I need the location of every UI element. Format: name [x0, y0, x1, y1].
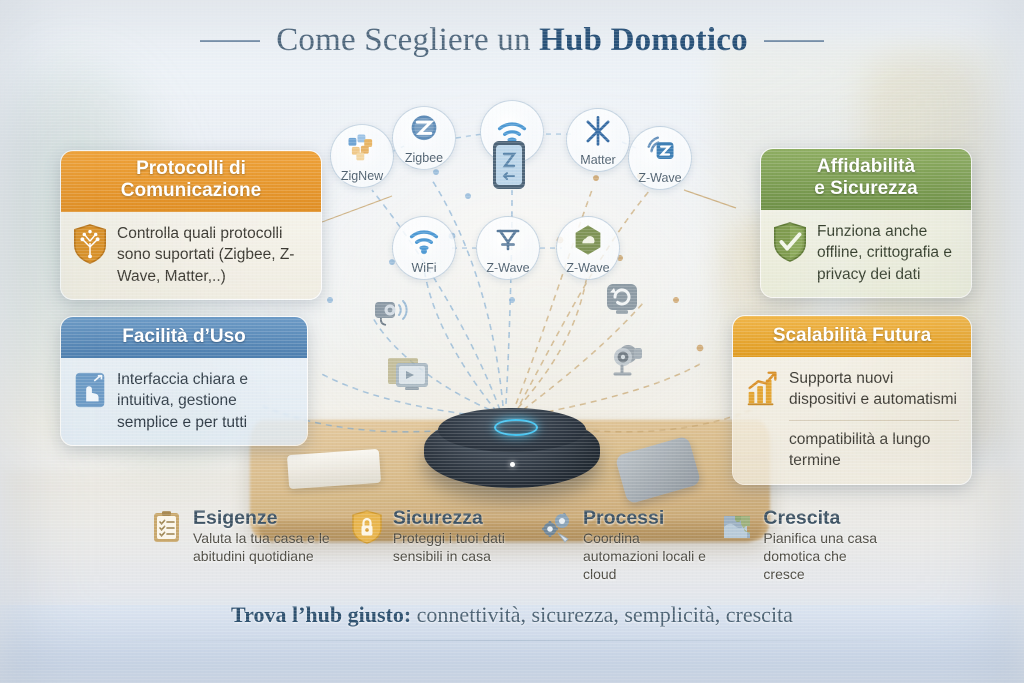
hand-touch-icon — [72, 370, 108, 410]
hub-status-led — [510, 462, 515, 467]
badge-zwave-mid[interactable]: Z-Wave — [476, 216, 540, 280]
title-text-bold: Hub Domotico — [539, 22, 748, 58]
badge-label: Matter — [580, 153, 615, 167]
gears-icon — [540, 510, 574, 544]
badge-matter[interactable]: Matter — [566, 108, 630, 172]
bottom-item-esigenze[interactable]: Esigenze Valuta la tua casa e le abitudi… — [150, 508, 344, 566]
orange-shield-network-icon — [72, 224, 108, 264]
bottom-item-title: Esigenze — [193, 508, 344, 528]
card-header-line1: Protocolli di — [75, 158, 307, 180]
sync-refresh-icon — [604, 282, 644, 316]
bottom-item-desc: Proteggi i tuoi dati sensibili in casa — [393, 530, 534, 566]
bottom-item-title: Sicurezza — [393, 508, 534, 528]
green-shield-check-icon — [772, 222, 808, 262]
footer-normal: connettività, sicurezza, semplicità, cre… — [411, 602, 793, 627]
puzzle-piece-icon — [720, 510, 754, 544]
device-tv[interactable] — [386, 355, 432, 395]
wifi-icon — [406, 222, 442, 258]
thread-icon — [490, 222, 526, 258]
footer-bold: Trova l’hub giusto: — [231, 602, 411, 627]
card-header-line1: Facilità d’Uso — [75, 326, 293, 348]
card-body-text-secondary: compatibilità a lungo termine — [789, 429, 959, 472]
card-header-line2: Comunicazione — [75, 180, 307, 202]
wireless-sensor-icon — [372, 295, 412, 329]
card-header-line1: Affidabilità — [775, 156, 957, 178]
card-body: Interfaccia chiara e intuitiva, gestione… — [61, 358, 307, 445]
bottom-item-title: Crescita — [763, 508, 890, 528]
bottom-item-crescita[interactable]: Crescita Pianifica una casa domotica che… — [720, 508, 890, 584]
badge-zigbee[interactable]: Zigbee — [392, 106, 456, 170]
title-rule-right — [764, 40, 824, 42]
notebook-prop — [287, 449, 381, 489]
badge-wifi[interactable]: WiFi — [392, 216, 456, 280]
card-body-text: Funziona anche offline, crittografia e p… — [817, 221, 959, 285]
smart-phone-icon — [492, 140, 526, 190]
card-affidabilita-sicurezza[interactable]: Affidabilità e Sicurezza Funziona anche … — [760, 148, 972, 298]
device-camera[interactable] — [606, 340, 652, 380]
lock-shield-icon — [350, 510, 384, 544]
card-scalabilita-futura[interactable]: Scalabilità Futura Supporta nuovi dispos… — [732, 315, 972, 485]
zigbee-cluster-icon — [344, 130, 380, 166]
card-header-line1: Scalabilità Futura — [747, 325, 957, 347]
card-header: Protocolli di Comunicazione — [61, 151, 321, 212]
footer-tagline: Trova l’hub giusto: connettività, sicure… — [0, 602, 1024, 628]
card-divider — [789, 420, 959, 421]
card-header: Scalabilità Futura — [733, 316, 971, 357]
bottom-items-row: Esigenze Valuta la tua casa e le abitudi… — [150, 508, 890, 586]
device-sync[interactable] — [604, 282, 644, 316]
badge-zwave-top[interactable]: Z-Wave — [628, 126, 692, 190]
infographic-canvas: Come Scegliere un Hub Domotico ZigNew Zi… — [0, 0, 1024, 683]
bottom-item-title: Processi — [583, 508, 714, 528]
card-body: Funziona anche offline, crittografia e p… — [761, 210, 971, 297]
title-rule-left — [200, 40, 260, 42]
badge-label: Z-Wave — [638, 171, 681, 185]
hexagon-cloud-icon — [570, 222, 606, 258]
clipboard-checklist-icon — [150, 510, 184, 544]
device-wireless-sensor[interactable] — [372, 295, 412, 329]
card-header: Affidabilità e Sicurezza — [761, 149, 971, 210]
bottom-item-processi[interactable]: Processi Coordina automazioni locali e c… — [540, 508, 714, 584]
center-phone[interactable] — [492, 140, 526, 190]
card-body-text: Interfaccia chiara e intuitiva, gestione… — [117, 369, 295, 433]
badge-label: WiFi — [412, 261, 437, 275]
bottom-item-sicurezza[interactable]: Sicurezza Proteggi i tuoi dati sensibili… — [350, 508, 534, 566]
security-camera-icon — [606, 340, 652, 380]
bottom-item-desc: Pianifica una casa domotica che cresce — [763, 530, 890, 584]
badge-zignew[interactable]: ZigNew — [330, 124, 394, 188]
card-body: Supporta nuovi dispositivi e automatismi… — [733, 357, 971, 484]
hub-light-ring — [494, 419, 538, 436]
zigbee-z-icon — [406, 112, 442, 148]
badge-label: Z-Wave — [486, 261, 529, 275]
growth-bar-chart-icon — [744, 369, 780, 409]
badge-label: Zigbee — [405, 151, 443, 165]
bottom-item-desc: Coordina automazioni locali e cloud — [583, 530, 714, 584]
card-body-text: Controlla quali protocolli sono suportat… — [117, 223, 309, 287]
card-body-text: Supporta nuovi dispositivi e automatismi — [789, 368, 959, 411]
page-title: Come Scegliere un Hub Domotico — [0, 22, 1024, 59]
card-body: Controlla quali protocolli sono suportat… — [61, 212, 321, 299]
badge-label: ZigNew — [341, 169, 383, 183]
card-facilita-uso[interactable]: Facilità d’Uso Interfaccia chiara e intu… — [60, 316, 308, 446]
card-protocolli-comunicazione[interactable]: Protocolli di Comunicazione Controlla qu… — [60, 150, 322, 300]
tv-display-icon — [386, 355, 432, 395]
title-text-normal: Come Scegliere un — [276, 22, 539, 58]
footer-rule — [60, 640, 964, 641]
bottom-item-desc: Valuta la tua casa e le abitudini quotid… — [193, 530, 344, 566]
smart-hub-device[interactable] — [424, 400, 600, 492]
badge-zwave-green[interactable]: Z-Wave — [556, 216, 620, 280]
zwave-tile-icon — [642, 132, 678, 168]
card-header-line2: e Sicurezza — [775, 178, 957, 200]
matter-icon — [580, 114, 616, 150]
card-header: Facilità d’Uso — [61, 317, 307, 358]
badge-label: Z-Wave — [566, 261, 609, 275]
